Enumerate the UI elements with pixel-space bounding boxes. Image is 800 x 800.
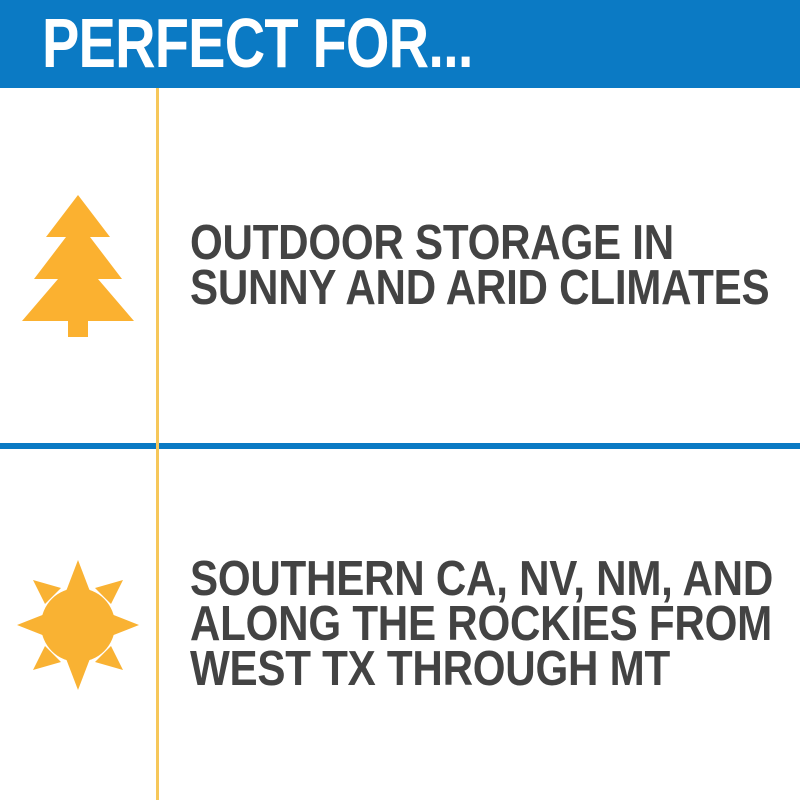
- feature-row-outdoor-storage: OUTDOOR STORAGE IN SUNNY AND ARID CLIMAT…: [0, 88, 800, 443]
- headline-line: SOUTHERN CA, NV, NM, AND: [190, 557, 773, 602]
- headline-outdoor-storage: OUTDOOR STORAGE IN SUNNY AND ARID CLIMAT…: [190, 221, 769, 311]
- page-title: PERFECT FOR...: [42, 4, 473, 82]
- headline-line: SUNNY AND ARID CLIMATES: [190, 266, 769, 311]
- evergreen-tree-icon: [22, 195, 134, 337]
- headline-line: ALONG THE ROCKIES FROM: [190, 602, 773, 647]
- sun-icon: [17, 560, 139, 690]
- icon-cell-sun: [0, 449, 156, 800]
- text-cell-outdoor-storage: OUTDOOR STORAGE IN SUNNY AND ARID CLIMAT…: [156, 221, 800, 311]
- column-divider-vertical: [156, 88, 159, 800]
- header-band: PERFECT FOR...: [0, 0, 800, 88]
- infographic-panel: PERFECT FOR... OUTDOOR STORAGE IN SUNNY …: [0, 0, 800, 800]
- headline-line: OUTDOOR STORAGE IN: [190, 221, 769, 266]
- headline-line: WEST TX THROUGH MT: [190, 647, 773, 692]
- icon-cell-tree: [0, 88, 156, 443]
- feature-row-regions: SOUTHERN CA, NV, NM, AND ALONG THE ROCKI…: [0, 449, 800, 800]
- text-cell-regions: SOUTHERN CA, NV, NM, AND ALONG THE ROCKI…: [156, 557, 800, 692]
- headline-regions: SOUTHERN CA, NV, NM, AND ALONG THE ROCKI…: [190, 557, 773, 692]
